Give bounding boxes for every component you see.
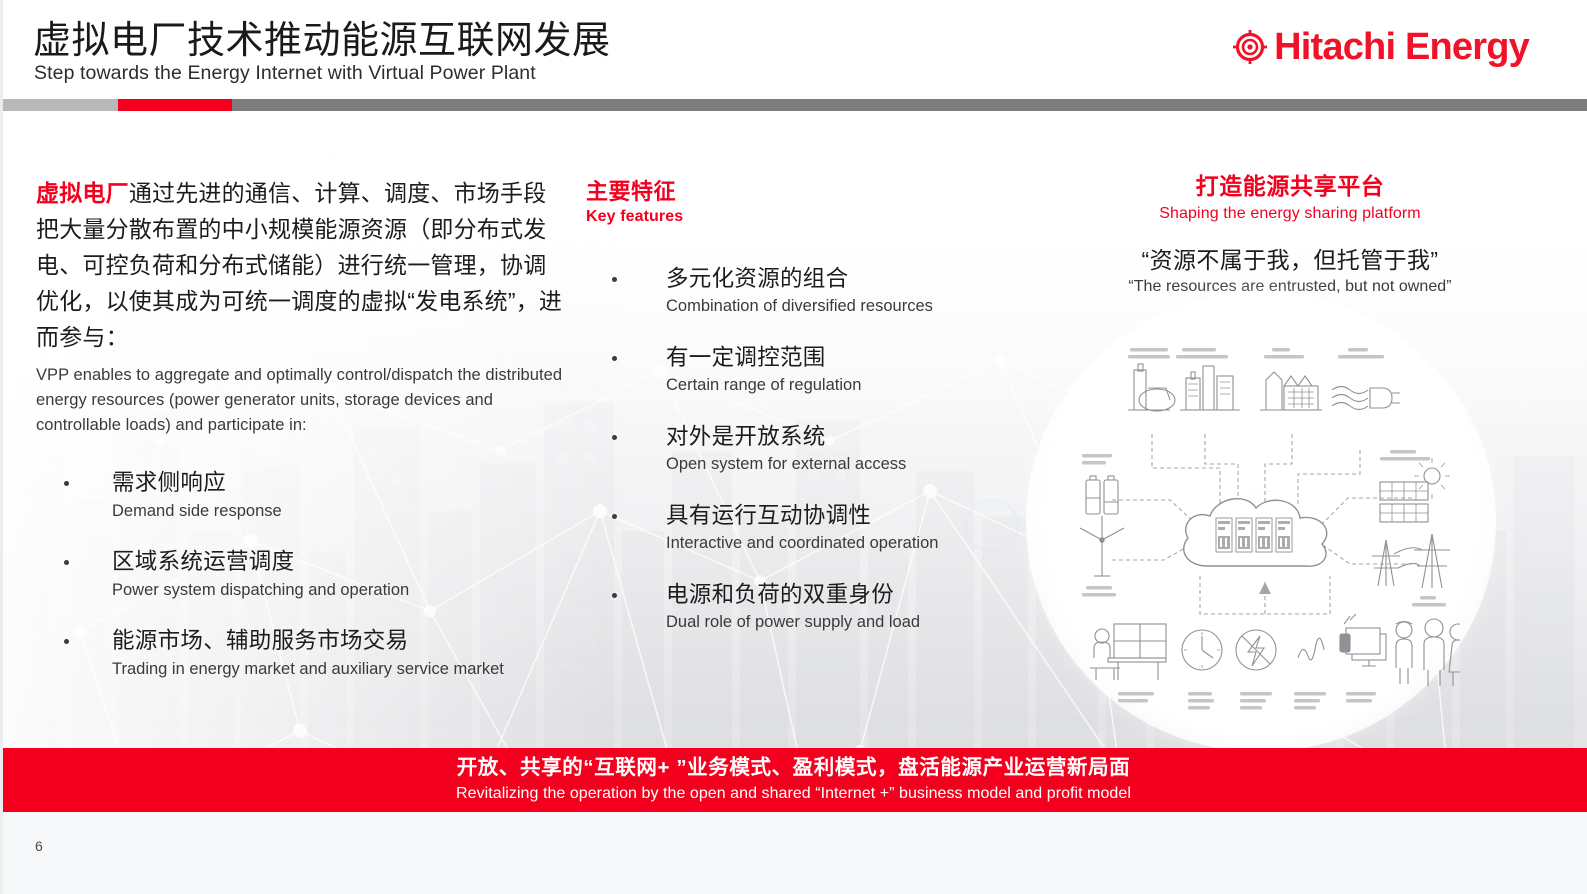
bullet-dot-icon	[64, 560, 69, 565]
divider-gray-segment	[0, 99, 1587, 111]
list-item: 有一定调控范围 Certain range of regulation	[586, 343, 986, 397]
vpp-cloud-platform-diagram	[1000, 286, 1530, 756]
banner-text-zh: 开放、共享的“互联网+ ”业务模式、盈利模式，盘活能源产业运营新局面	[457, 755, 1131, 781]
bullet-dot-icon	[612, 435, 617, 440]
bullet-dot-icon	[612, 277, 617, 282]
bullet-dot-icon	[612, 356, 617, 361]
slide-footer	[0, 812, 1587, 894]
left-column: 虚拟电厂通过先进的通信、计算、调度、市场手段把大量分散布置的中小规模能源资源（即…	[36, 175, 566, 681]
list-item: 能源市场、辅助服务市场交易 Trading in energy market a…	[36, 626, 566, 681]
vpp-definition-en: VPP enables to aggregate and optimally c…	[36, 363, 566, 438]
bullet-dot-icon	[64, 639, 69, 644]
diagram-illustration	[1060, 328, 1460, 718]
bullet-label-zh: 需求侧响应	[112, 468, 566, 498]
right-column: 打造能源共享平台 Shaping the energy sharing plat…	[1010, 167, 1570, 296]
hitachi-energy-logo: Hitachi Energy	[1233, 28, 1529, 66]
bullet-label-zh: 能源市场、辅助服务市场交易	[112, 626, 566, 656]
bullet-label-en: Demand side response	[112, 499, 566, 523]
vpp-definition-zh: 虚拟电厂通过先进的通信、计算、调度、市场手段把大量分散布置的中小规模能源资源（即…	[36, 175, 566, 355]
feature-label-zh: 电源和负荷的双重身份	[666, 580, 986, 609]
vpp-definition-highlight: 虚拟电厂	[36, 180, 129, 206]
slide-header: 虚拟电厂技术推动能源互联网发展 Step towards the Energy …	[0, 0, 1587, 96]
bullet-label-en: Power system dispatching and operation	[112, 578, 566, 602]
list-item: 对外是开放系统 Open system for external access	[586, 422, 986, 476]
feature-label-en: Dual role of power supply and load	[666, 610, 986, 634]
divider-red-segment	[118, 99, 232, 111]
list-item: 电源和负荷的双重身份 Dual role of power supply and…	[586, 580, 986, 634]
banner-text-en: Revitalizing the operation by the open a…	[456, 784, 1131, 805]
key-features-heading-en: Key features	[586, 208, 986, 226]
feature-label-en: Interactive and coordinated operation	[666, 531, 986, 555]
feature-label-en: Certain range of regulation	[666, 373, 986, 397]
logo-wordmark: Hitachi Energy	[1274, 28, 1529, 66]
bullet-label-en: Trading in energy market and auxiliary s…	[112, 657, 566, 681]
feature-label-en: Open system for external access	[666, 452, 986, 476]
list-item: 具有运行互动协调性 Interactive and coordinated op…	[586, 501, 986, 555]
list-item: 区域系统运营调度 Power system dispatching and op…	[36, 547, 566, 602]
feature-label-zh: 对外是开放系统	[666, 422, 986, 451]
bullet-dot-icon	[612, 514, 617, 519]
bullet-label-zh: 区域系统运营调度	[112, 547, 566, 577]
bullet-dot-icon	[612, 593, 617, 598]
left-bullet-list: 需求侧响应 Demand side response 区域系统运营调度 Powe…	[36, 468, 566, 681]
platform-heading-zh: 打造能源共享平台	[1010, 167, 1570, 201]
slide-left-edge	[0, 0, 3, 894]
divider-light-segment	[0, 99, 118, 111]
feature-label-en: Combination of diversified resources	[666, 294, 986, 318]
header-accent-divider	[0, 99, 1587, 111]
hitachi-target-icon	[1233, 30, 1267, 64]
page-title-zh: 虚拟电厂技术推动能源互联网发展	[33, 22, 611, 62]
feature-label-zh: 多元化资源的组合	[666, 264, 986, 293]
list-item: 需求侧响应 Demand side response	[36, 468, 566, 523]
middle-column: 主要特征 Key features 多元化资源的组合 Combination o…	[586, 174, 986, 634]
page-title-en: Step towards the Energy Internet with Vi…	[34, 62, 536, 85]
feature-label-zh: 有一定调控范围	[666, 343, 986, 372]
list-item: 多元化资源的组合 Combination of diversified reso…	[586, 264, 986, 318]
bullet-dot-icon	[64, 481, 69, 486]
platform-quote-zh: “资源不属于我，但托管于我”	[1010, 241, 1570, 275]
key-features-heading-zh: 主要特征	[586, 174, 986, 206]
bottom-banner: 开放、共享的“互联网+ ”业务模式、盈利模式，盘活能源产业运营新局面 Revit…	[0, 748, 1587, 812]
platform-heading-en: Shaping the energy sharing platform	[1010, 205, 1570, 223]
feature-label-zh: 具有运行互动协调性	[666, 501, 986, 530]
page-number: 6	[35, 838, 43, 854]
key-features-list: 多元化资源的组合 Combination of diversified reso…	[586, 264, 986, 634]
slide: 虚拟电厂技术推动能源互联网发展 Step towards the Energy …	[0, 0, 1587, 894]
